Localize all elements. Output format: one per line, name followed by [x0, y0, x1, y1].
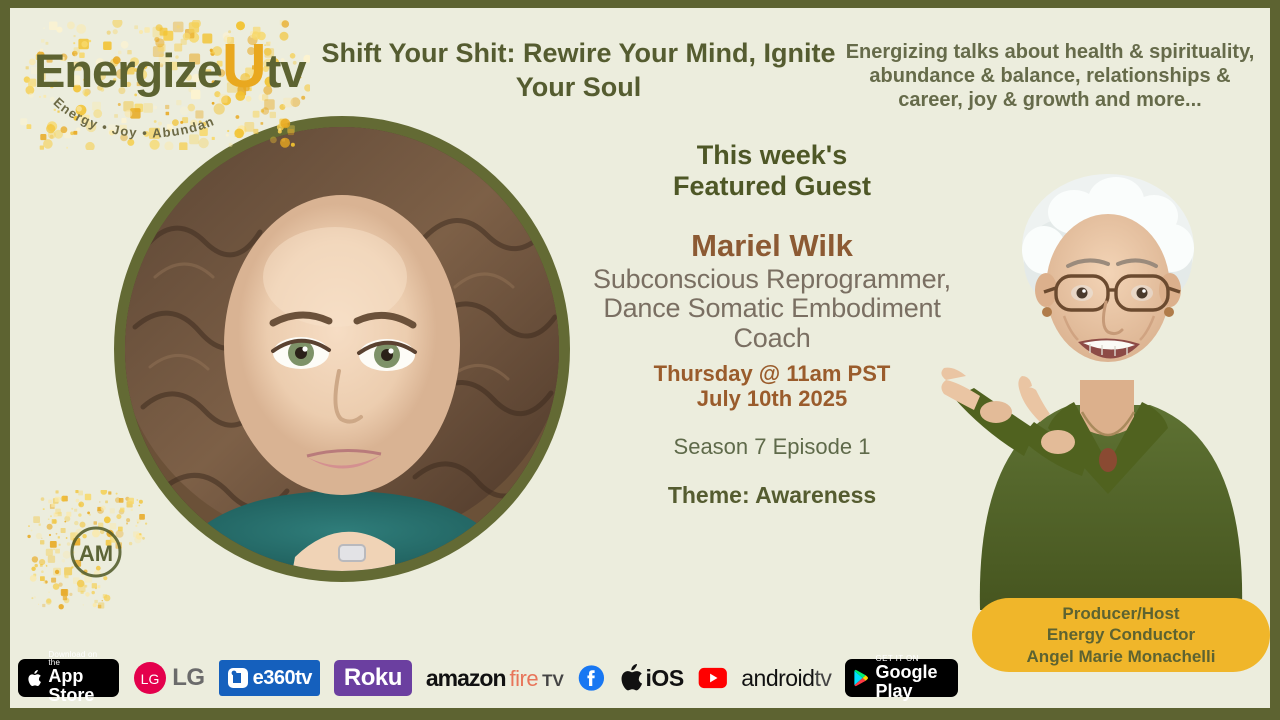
airtime-line-2: July 10th 2025	[570, 386, 974, 412]
host-photo	[940, 130, 1270, 610]
platform-badge-row: Download on the App Store LG LG e360tv	[18, 654, 958, 702]
guest-photo	[114, 116, 570, 582]
androidtv-tv-label: tv	[814, 665, 831, 692]
episode-theme: Theme: Awareness	[570, 482, 974, 509]
apple-ios-icon	[619, 664, 643, 692]
lg-circle-icon: LG	[133, 661, 167, 695]
lg-label: LG	[172, 664, 204, 692]
producer-role-line-2: Energy Conductor	[1027, 624, 1216, 645]
poster-canvas: EnergizeUtv Energy • Joy • Abundance Shi…	[10, 8, 1270, 708]
airtime-line-1: Thursday @ 11am PST	[570, 361, 974, 387]
tagline-text: Energizing talks about health & spiritua…	[840, 40, 1260, 112]
roku-label: Roku	[344, 664, 402, 692]
am-monogram-watermark: AM	[24, 490, 154, 610]
featured-line-1: This week's	[570, 140, 974, 171]
badge-lg[interactable]: LG LG	[133, 661, 204, 695]
producer-role-line-1: Producer/Host	[1027, 603, 1216, 624]
producer-name: Angel Marie Monachelli	[1027, 646, 1216, 667]
producer-host-badge: Producer/Host Energy Conductor Angel Mar…	[972, 598, 1270, 672]
e360tv-mark-icon	[227, 666, 249, 690]
badge-ios[interactable]: iOS	[619, 664, 684, 692]
svg-text:AM: AM	[79, 541, 113, 566]
page-title: Shift Your Shit: Rewire Your Mind, Ignit…	[306, 36, 851, 104]
svg-text:Energy • Joy • Abundance: Energy • Joy • Abundance	[20, 20, 217, 141]
google-play-icon	[853, 666, 868, 690]
google-play-main-label: Google Play	[875, 663, 947, 701]
svg-text:LG: LG	[141, 671, 160, 687]
badge-android-tv[interactable]: androidtv	[741, 665, 831, 692]
fire-label: fire	[510, 666, 539, 692]
app-store-top-label: Download on the	[48, 651, 107, 667]
amazon-label: amazon	[426, 665, 506, 692]
brand-arc-tagline: Energy • Joy • Abundance	[20, 20, 310, 150]
featured-line-2: Featured Guest	[570, 171, 974, 202]
airtime: Thursday @ 11am PST July 10th 2025	[570, 361, 974, 412]
badge-youtube[interactable]	[698, 663, 728, 693]
e360tv-label: e360tv	[253, 667, 312, 690]
brand-logo: EnergizeUtv Energy • Joy • Abundance	[20, 20, 310, 150]
app-store-main-label: App Store	[48, 667, 107, 705]
android-label: android	[741, 665, 814, 692]
guest-role: Subconscious Reprogrammer, Dance Somatic…	[570, 265, 974, 354]
guest-name: Mariel Wilk	[570, 228, 974, 264]
apple-icon	[27, 666, 41, 691]
badge-app-store[interactable]: Download on the App Store	[18, 659, 119, 697]
badge-google-play[interactable]: GET IT ON Google Play	[845, 659, 958, 697]
badge-roku[interactable]: Roku	[334, 660, 412, 696]
ios-label: iOS	[646, 665, 684, 692]
firetv-tv-label: TV	[542, 671, 564, 691]
promo-poster: EnergizeUtv Energy • Joy • Abundance Shi…	[0, 0, 1280, 720]
badge-e360tv[interactable]: e360tv	[219, 660, 320, 696]
episode-info: This week's Featured Guest Mariel Wilk S…	[570, 140, 974, 509]
badge-facebook[interactable]	[578, 659, 605, 697]
season-episode: Season 7 Episode 1	[570, 434, 974, 460]
badge-amazon-fire-tv[interactable]: amazon fire TV	[426, 665, 564, 692]
featured-guest-heading: This week's Featured Guest	[570, 140, 974, 202]
